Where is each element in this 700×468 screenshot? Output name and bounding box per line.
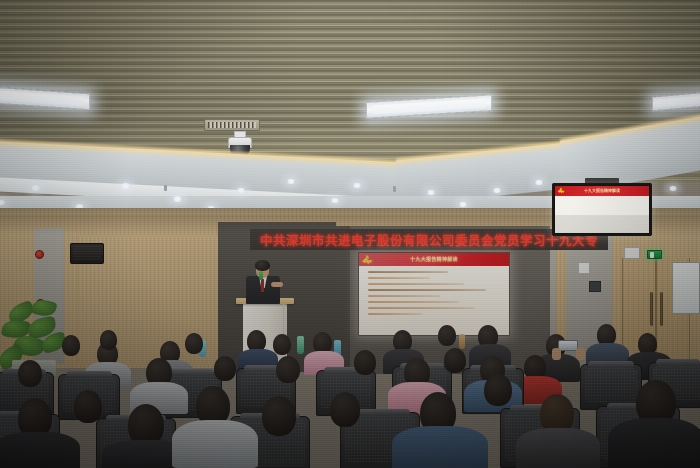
recessed-downlight (492, 188, 502, 193)
attendee-denim-jacket (392, 426, 488, 468)
recessed-downlight (426, 190, 436, 195)
presenter-tie (261, 279, 264, 292)
audience-head (276, 356, 300, 383)
audience-head (74, 390, 102, 423)
slide-bullet-line (368, 277, 430, 279)
water-bottle (297, 336, 304, 354)
light-tube (373, 99, 485, 114)
recessed-downlight (30, 185, 41, 191)
wall-sign (589, 281, 601, 292)
slide-bullet-line (368, 283, 464, 285)
audience-head (185, 333, 203, 354)
smartphone-camera[interactable] (558, 340, 578, 351)
attendee-hand (552, 348, 561, 360)
presenter-hand (271, 282, 283, 287)
audience-head (330, 392, 360, 427)
audience-head (354, 350, 376, 375)
wall-tv-monitor: 十九大报告精神解读 (552, 183, 652, 236)
air-conditioning-vent (204, 119, 260, 131)
audience-head (438, 325, 456, 346)
wall-whiteboard (672, 262, 700, 314)
audience-head (262, 396, 296, 436)
door-handle[interactable] (650, 292, 653, 326)
chair-mesh (585, 368, 637, 403)
wall-control-panel[interactable] (624, 247, 640, 259)
slide-bullet-line (368, 301, 459, 303)
audience-head (444, 348, 466, 373)
light-tube (656, 96, 700, 108)
audience-head (18, 360, 42, 387)
slide-header: 十九大报告精神解读 (359, 253, 509, 266)
chair-headrest (588, 361, 634, 368)
running-man-icon (650, 252, 654, 258)
sprinkler-head (164, 185, 167, 191)
handheld-microphone (259, 271, 263, 280)
conference-hall-photo: 中共深圳市共进电子股份有限公司委员会党员学习十九大专 十九大报告精神解读 十九大… (0, 0, 700, 468)
audience-shoulders (172, 420, 258, 468)
audience-shoulders (0, 432, 80, 468)
chair-headrest (656, 359, 700, 366)
chair-headrest (168, 369, 214, 376)
slide-bullet-line (368, 271, 448, 273)
slide-title: 十九大报告精神解读 (359, 256, 509, 263)
audience-shoulders (516, 428, 600, 468)
door-handle[interactable] (660, 292, 663, 326)
attendee-hand (576, 348, 585, 360)
tv-slide-header: 十九大报告精神解读 (555, 186, 649, 196)
audience-head (214, 356, 236, 381)
wall-mounted-speaker (70, 243, 104, 264)
recessed-downlight (352, 183, 362, 188)
audience-head (484, 374, 512, 406)
recessed-downlight (286, 179, 296, 184)
water-bottle (459, 334, 465, 349)
recessed-downlight (120, 183, 131, 189)
slide-bullet-line (368, 313, 422, 315)
recessed-downlight (330, 198, 340, 203)
emergency-exit-sign (647, 250, 662, 259)
audience-head (273, 334, 291, 355)
audience-head (62, 335, 80, 356)
recessed-downlight (172, 196, 183, 202)
audience-shoulders (608, 418, 700, 468)
tv-screen: 十九大报告精神解读 (555, 186, 649, 233)
sprinkler-head (393, 186, 396, 192)
light-tube (0, 91, 84, 105)
plant-leaf (30, 297, 57, 318)
presenter-head (255, 260, 270, 271)
recessed-downlight (458, 202, 468, 207)
slide-bullet-line (368, 307, 475, 309)
slide-bullet-line (368, 295, 440, 297)
wall-notice (578, 262, 590, 274)
slide-bullet-line (368, 289, 486, 291)
audience-head (100, 330, 117, 350)
banner-text: 中共深圳市共进电子股份有限公司委员会党员学习十九大专 (260, 230, 598, 249)
fire-alarm-bell (35, 250, 44, 259)
tv-slide-title: 十九大报告精神解读 (555, 188, 649, 194)
projection-screen: 十九大报告精神解读 (358, 252, 510, 336)
recessed-downlight (236, 188, 246, 193)
vent-fins (208, 122, 256, 128)
recessed-downlight (534, 180, 544, 185)
chair-headrest (66, 371, 112, 378)
recessed-downlight (668, 186, 678, 191)
speaker-grille (73, 246, 101, 261)
